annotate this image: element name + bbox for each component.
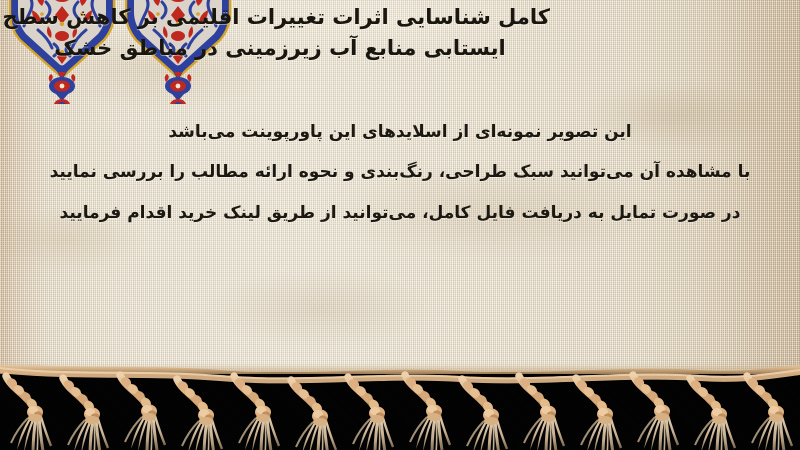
slide-body-line-2: با مشاهده آن می‌توانید سبک طراحی، رنگ‌بن…: [0, 152, 800, 192]
slide-title: کامل شناسایی اثرات تغییرات اقلیمی بر کاه…: [10, 2, 550, 63]
slide-title-line-1: کامل شناسایی اثرات تغییرات اقلیمی بر کاه…: [10, 2, 550, 33]
slide-title-line-2: ایستابی منابع آب زیرزمینی در مناطق خشک: [10, 33, 550, 64]
slide-body-line-1: این تصویر نمونه‌ای از اسلایدهای این پاور…: [0, 112, 800, 152]
slide-canvas: کامل شناسایی اثرات تغییرات اقلیمی بر کاه…: [0, 0, 800, 450]
slide-text-layer: کامل شناسایی اثرات تغییرات اقلیمی بر کاه…: [0, 0, 800, 386]
slide-body: این تصویر نمونه‌ای از اسلایدهای این پاور…: [0, 112, 800, 233]
slide-body-line-3: در صورت تمایل به دریافت فایل کامل، می‌تو…: [0, 193, 800, 233]
knotted-tassel-fringe: [0, 360, 800, 450]
